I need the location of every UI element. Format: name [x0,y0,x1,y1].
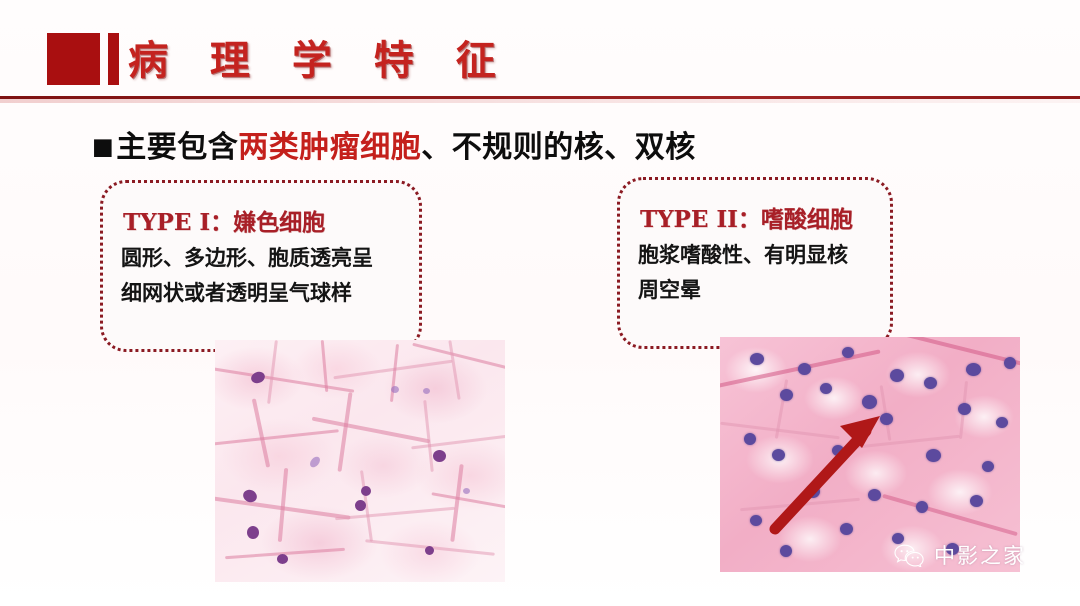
micrograph-image-type-1 [215,340,505,582]
cell-nucleus [463,488,470,494]
watermark: 中影之家 [893,540,1026,570]
header-divider-shadow [0,99,1080,103]
callout-body-type-1: 圆形、多边形、胞质透亮呈 细网状或者透明呈气球样 [121,241,373,311]
cell-nucleus [355,500,366,511]
main-heading: ■主要包含两类肿瘤细胞、不规则的核、双核 [92,122,696,166]
callout-body-line: 圆形、多边形、胞质透亮呈 [121,241,373,276]
cell-nucleus [423,388,430,394]
page-title: 病 理 学 特 征 [128,28,510,86]
callout-type-term: 嗜酸细胞 [761,207,853,233]
heading-highlight: 两类肿瘤细胞 [238,130,421,165]
red-bar-decoration [108,33,119,85]
callout-type-label: TYPE I [123,209,210,236]
callout-box-type-1: TYPE I：嫌色细胞 圆形、多边形、胞质透亮呈 细网状或者透明呈气球样 [100,180,422,352]
cell-nucleus [361,486,371,496]
slide-canvas: 病 理 学 特 征 ■主要包含两类肿瘤细胞、不规则的核、双核 TYPE I：嫌色… [0,0,1080,606]
callout-box-type-2: TYPE II：嗜酸细胞 胞浆嗜酸性、有明显核 周空晕 [617,177,893,349]
watermark-text: 中影之家 [934,540,1026,570]
callout-separator: ： [738,207,761,233]
cell-nucleus [425,546,434,555]
wechat-logo-icon [893,543,927,567]
callout-type-term: 嫌色细胞 [233,210,325,236]
bullet-marker: ■ [92,134,114,160]
callout-body-line: 周空晕 [638,273,848,308]
heading-suffix: 、不规则的核、双核 [421,130,696,165]
callout-body-line: 细网状或者透明呈气球样 [121,276,373,311]
cell-nucleus [247,526,259,539]
cell-nucleus [391,386,399,393]
callout-body-type-2: 胞浆嗜酸性、有明显核 周空晕 [638,238,848,308]
cell-nucleus [277,554,288,564]
callout-type-label: TYPE II [640,206,738,233]
cell-nucleus [433,450,446,462]
heading-prefix: 主要包含 [116,130,238,165]
callout-body-line: 胞浆嗜酸性、有明显核 [638,238,848,273]
slide-header: 病 理 学 特 征 [0,0,1080,98]
red-square-decoration [47,33,100,85]
callout-title-type-2: TYPE II：嗜酸细胞 [640,200,853,234]
callout-separator: ： [210,210,233,236]
callout-title-type-1: TYPE I：嫌色细胞 [123,203,325,237]
